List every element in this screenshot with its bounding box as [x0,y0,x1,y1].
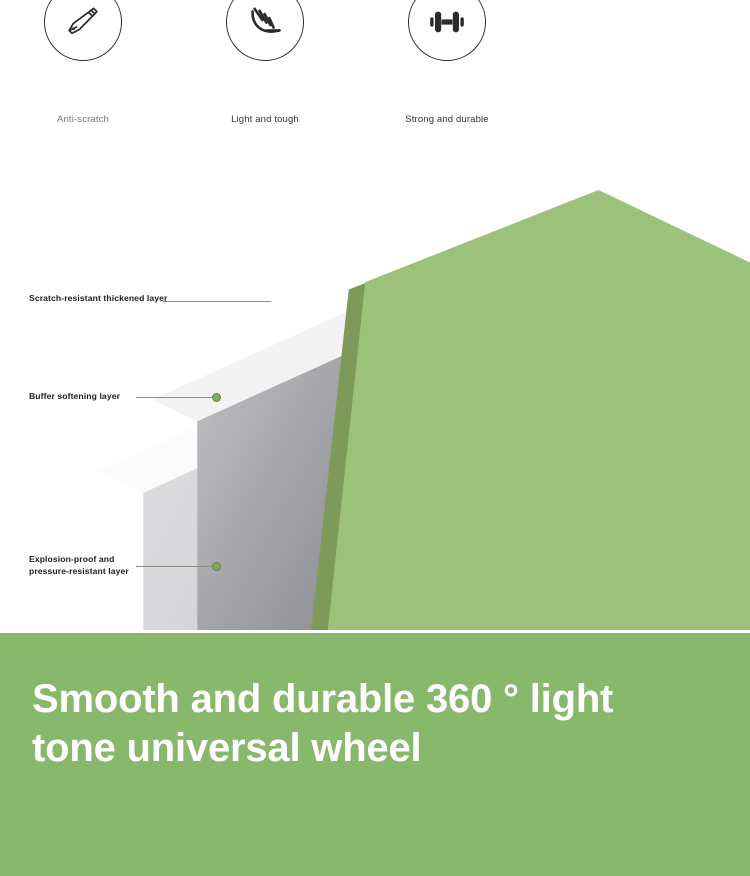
feather-icon [242,0,288,45]
feature-label: Anti-scratch [0,114,168,125]
callout-leader-line [136,397,215,398]
banner-heading: Smooth and durable 360 ° light tone univ… [32,675,672,773]
feature-icon-circle [408,0,486,61]
scalpel-icon [60,0,106,45]
callout-label: Scratch-resistant thickened layer [29,293,167,305]
callout-label: Buffer softening layer [29,391,120,403]
feature-item-strong-and-durable: Strong and durable [362,0,532,140]
layer-structure-diagram: Scratch-resistant thickened layer Buffer… [0,140,750,630]
callout-end-dot [212,393,221,402]
callout-label-line2: pressure-resistant layer [29,566,129,578]
feature-label: Light and tough [180,114,350,125]
feature-highlights-row: Anti-scratch Light and tough [0,0,750,140]
bottom-promo-banner: Smooth and durable 360 ° light tone univ… [0,633,750,876]
dumbbell-icon [424,0,470,45]
feature-icon-circle [44,0,122,61]
banner-heading-line1: Smooth and durable 360 ° light [32,675,672,724]
banner-heading-line2: tone universal wheel [32,724,672,773]
callout-leader-line [163,301,271,302]
callout-leader-line [136,566,215,567]
feature-item-light-and-tough: Light and tough [180,0,350,140]
callout-end-dot [212,562,221,571]
feature-icon-circle [226,0,304,61]
feature-label: Strong and durable [362,114,532,125]
feature-item-anti-scratch: Anti-scratch [0,0,168,140]
callout-label-line1: Explosion-proof and [29,554,114,566]
